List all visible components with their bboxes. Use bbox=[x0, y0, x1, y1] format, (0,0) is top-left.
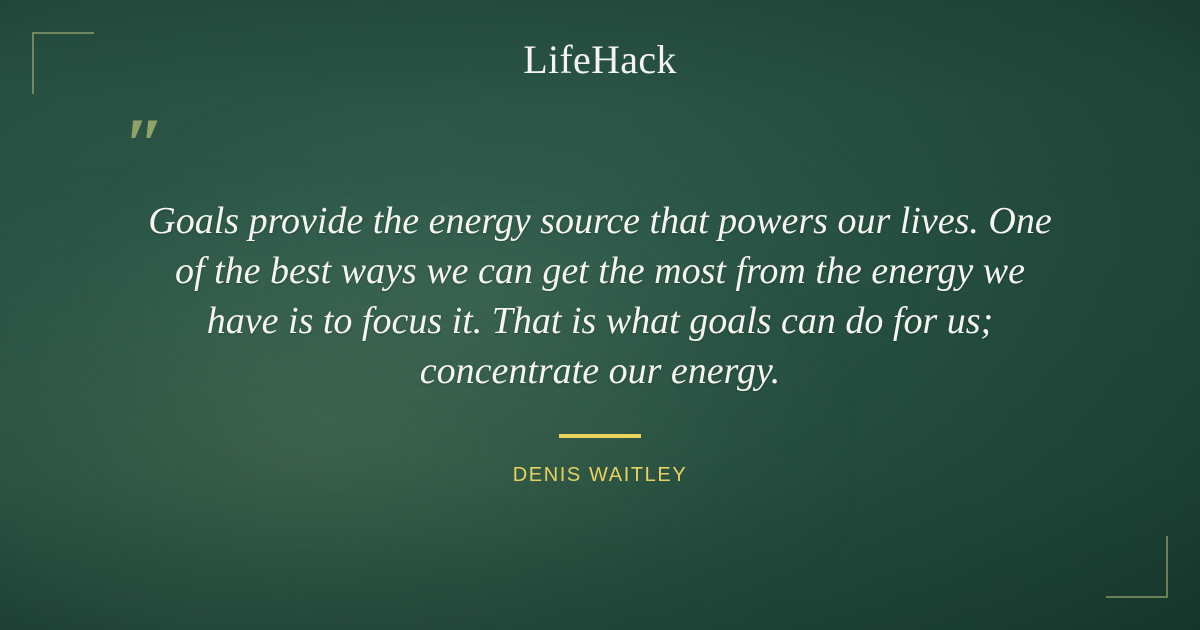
quote-text: Goals provide the energy source that pow… bbox=[100, 196, 1100, 396]
quote-line: concentrate our energy. bbox=[100, 346, 1100, 396]
quote-card: LifeHack ″ Goals provide the energy sour… bbox=[0, 0, 1200, 630]
quote-block: Goals provide the energy source that pow… bbox=[100, 196, 1100, 396]
quote-mark-icon: ″ bbox=[124, 108, 165, 182]
brand-logo: LifeHack bbox=[0, 40, 1200, 80]
quote-line: Goals provide the energy source that pow… bbox=[100, 196, 1100, 246]
author-divider bbox=[559, 434, 641, 438]
quote-line: of the best ways we can get the most fro… bbox=[100, 246, 1100, 296]
quote-line: have is to focus it. That is what goals … bbox=[100, 296, 1100, 346]
author-name: DENIS WAITLEY bbox=[0, 464, 1200, 487]
corner-bracket-bottom-right-icon bbox=[1106, 536, 1168, 598]
